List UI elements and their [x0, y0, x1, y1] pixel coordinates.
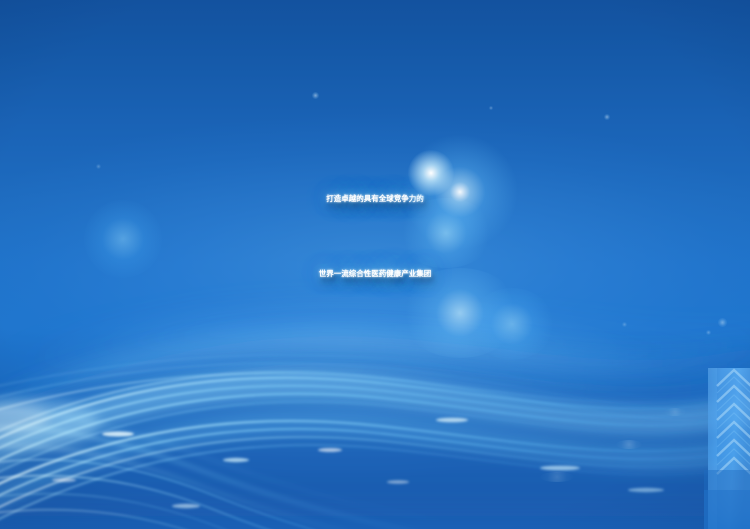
light-particle	[489, 106, 493, 110]
light-particle	[604, 114, 610, 120]
light-particle	[622, 322, 627, 327]
slogan-banner: 打造卓越的具有全球竞争力的 世界一流综合性医药健康产业集团	[0, 0, 750, 529]
light-particle	[706, 330, 711, 335]
light-particle	[718, 318, 727, 327]
chevron-tower-silhouette	[704, 362, 750, 529]
headline-line-1: 打造卓越的具有全球竞争力的	[0, 168, 750, 230]
headline-line-2: 世界一流综合性医药健康产业集团	[0, 242, 750, 306]
tower-graphic	[704, 362, 750, 529]
light-particle	[312, 92, 319, 99]
light-particle	[540, 472, 574, 482]
page-title: 打造卓越的具有全球竞争力的 世界一流综合性医药健康产业集团	[0, 168, 750, 306]
light-particle	[96, 164, 101, 169]
light-particle	[616, 440, 642, 449]
light-particle	[664, 408, 686, 416]
